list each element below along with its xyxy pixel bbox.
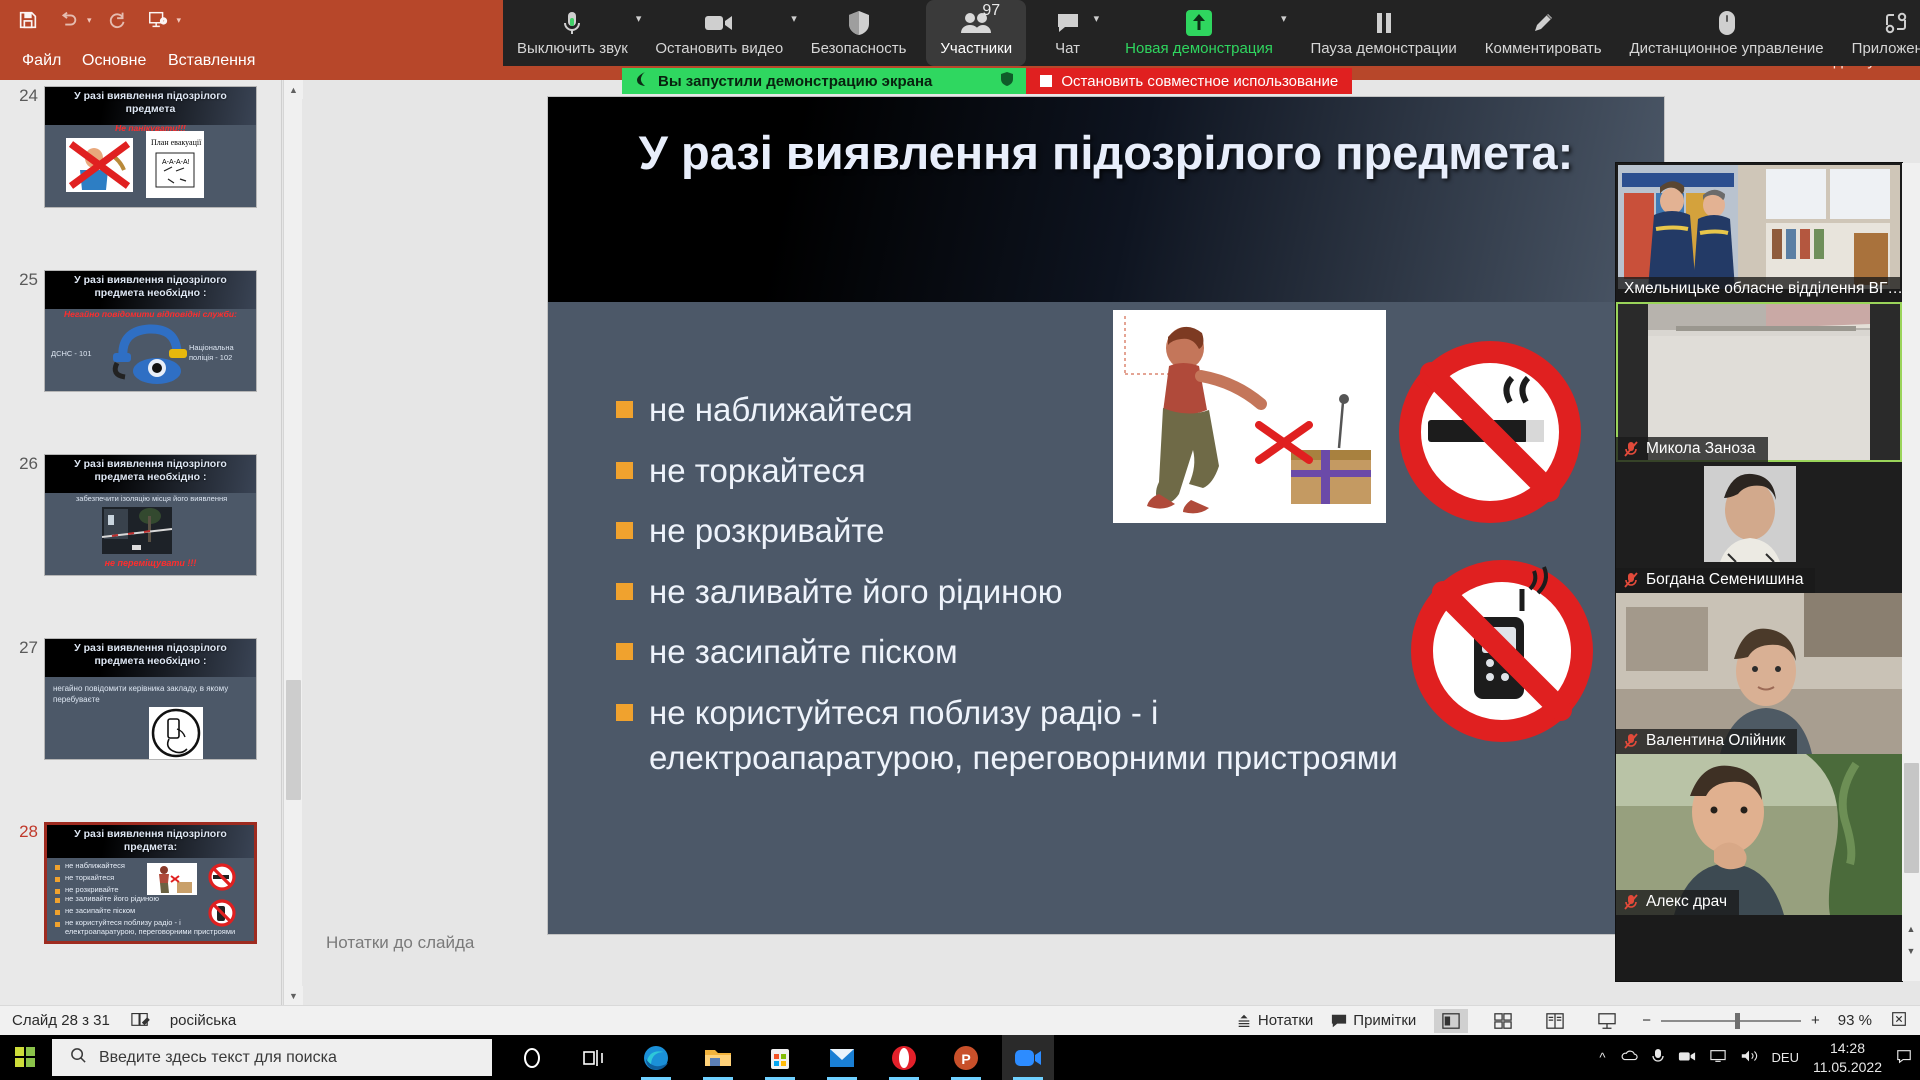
zoom-chat-button[interactable]: Чат <box>1036 0 1100 66</box>
list-item: не засипайте піском <box>616 629 1456 675</box>
muted-mic-icon <box>1624 894 1638 910</box>
taskbar-search-box[interactable]: Введите здесь текст для поиска <box>52 1039 492 1076</box>
zoom-video-strip[interactable]: Хмельницьке обласне відділення ВГ… <box>1616 163 1902 981</box>
camera-tray-icon[interactable] <box>1678 1049 1696 1066</box>
thumb-bullet-text: не засипайте піском <box>65 906 135 916</box>
notes-button[interactable]: Нотатки <box>1236 1012 1313 1029</box>
participant-name-text: Богдана Семенишина <box>1646 571 1803 589</box>
thumb-image-evac-plan: План евакуації A-A-A-A! <box>146 131 204 198</box>
video-tile-4[interactable]: Валентина Олійник <box>1616 593 1902 754</box>
redo-icon[interactable] <box>104 6 132 34</box>
zoom-sharing-status-bar: Вы запустили демонстрацию экрана Останов… <box>622 68 1352 94</box>
bullet-marker-icon <box>616 462 633 479</box>
keyboard-layout-indicator[interactable]: DEU <box>1772 1050 1799 1065</box>
pause-icon <box>1374 6 1394 40</box>
slide-thumbnail-24[interactable]: У разі виявлення підозрілого предмета Не… <box>44 86 257 208</box>
windows-taskbar[interactable]: Введите здесь текст для поиска <box>0 1035 1920 1080</box>
zoom-chat-label: Чат <box>1055 40 1080 57</box>
thumb-image-panic <box>66 138 133 192</box>
list-item[interactable]: 26 У разі виявлення підозрілого предмета… <box>0 454 282 576</box>
list-item[interactable]: 28 У разі виявлення підозрілого предмета… <box>0 822 282 944</box>
zoom-pause-share-button[interactable]: Пауза демонстрации <box>1296 0 1470 66</box>
ribbon-tab-file[interactable]: Файл <box>22 52 61 70</box>
edge-icon[interactable] <box>630 1035 682 1080</box>
participants-count: 97 <box>982 2 1000 20</box>
thumb-number: 25 <box>0 270 44 392</box>
video-tile-3[interactable]: Богдана Семенишина <box>1616 462 1902 593</box>
slide-image-suspicious-object[interactable] <box>1113 310 1386 523</box>
list-item: не заливайте його рідиною <box>616 569 1456 615</box>
mouse-icon <box>1718 6 1736 40</box>
bullet-text: не користуйтеся поблизу радіо - і електр… <box>649 690 1481 781</box>
thumb-number: 26 <box>0 454 44 576</box>
list-item: не користуйтеся поблизу радіо - і електр… <box>616 690 1481 781</box>
thumb-number: 24 <box>0 86 44 208</box>
clock-time: 14:28 <box>1813 1039 1882 1058</box>
thumb-bullet-text: не заливайте його рідиною <box>65 894 159 904</box>
svg-text:A-A-A-A!: A-A-A-A! <box>162 159 190 166</box>
language-indicator[interactable]: російська <box>170 1012 236 1029</box>
zoom-slider[interactable]: − + <box>1642 1012 1820 1029</box>
thumb-footer-text: не переміщувати !!! <box>51 558 250 568</box>
thumb-bullet-marker <box>55 865 60 870</box>
bullet-marker-icon <box>616 704 633 721</box>
view-reading-icon[interactable] <box>1538 1009 1572 1033</box>
opera-icon[interactable] <box>878 1035 930 1080</box>
thumb-plain-text: забезпечити ізоляцію місця його виявленн… <box>53 494 250 504</box>
thumb-plain-text: негайно повідомити керівника закладу, в … <box>53 684 250 706</box>
video-tile-1[interactable]: Хмельницьке обласне відділення ВГ… <box>1616 163 1902 302</box>
zoom-security-label: Безопасность <box>811 40 907 57</box>
slide-thumbnail-25[interactable]: У разі виявлення підозрілого предмета не… <box>44 270 257 392</box>
slide-thumbnail-26[interactable]: У разі виявлення підозрілого предмета не… <box>44 454 257 576</box>
video-tile-2[interactable]: Микола Заноза <box>1616 302 1902 462</box>
thumb-bullet-marker <box>55 889 60 894</box>
thumb-number: 28 <box>0 822 44 944</box>
slide-counter[interactable]: Слайд 28 з 31 <box>12 1012 110 1029</box>
participant-name-label: Алекс драч <box>1616 890 1739 915</box>
scroll-down-icon[interactable]: ▼ <box>284 986 303 1005</box>
video-strip-scrollbar[interactable]: ▲ ▼ <box>1902 163 1920 981</box>
start-button[interactable] <box>0 1035 52 1080</box>
chat-icon <box>1056 6 1080 40</box>
volume-icon[interactable] <box>1740 1049 1758 1066</box>
zoom-level-label[interactable]: 93 % <box>1838 1012 1872 1029</box>
participant-name-text: Хмельницьке обласне відділення ВГ… <box>1624 280 1902 298</box>
shield-icon <box>848 6 870 40</box>
view-normal-icon[interactable] <box>1434 1009 1468 1033</box>
zoom-annotate-button[interactable]: Комментировать <box>1471 0 1616 66</box>
view-slideshow-icon[interactable] <box>1590 1009 1624 1033</box>
zoom-stop-video-button[interactable]: Остановить видео <box>641 0 797 66</box>
scroll-up-icon[interactable]: ▲ <box>1902 919 1920 939</box>
bullet-text: не розкривайте <box>649 508 884 554</box>
list-item[interactable]: 25 У разі виявлення підозрілого предмета… <box>0 270 282 392</box>
qat-more-caret-icon[interactable]: ▾ <box>177 15 182 26</box>
undo-caret-icon[interactable]: ▾ <box>87 15 92 26</box>
ribbon-tab-home[interactable]: Основне <box>82 52 146 70</box>
zoom-meeting-toolbar[interactable]: Выключить звук ▾ Остановить видео ▾ <box>503 0 1920 66</box>
microphone-icon <box>560 6 584 40</box>
thumb-title: У разі виявлення підозрілого предмета не… <box>49 274 252 300</box>
zoom-participants-button[interactable]: 97 Участники <box>926 0 1026 66</box>
thumb-subtitle: Негайно повідомити відповідні служби: <box>51 309 250 319</box>
participant-name-label: Богдана Семенишина <box>1616 568 1815 593</box>
quick-access-toolbar: ▾ ▾ <box>14 6 181 34</box>
sharing-shield-icon <box>1000 71 1014 91</box>
show-hidden-icons-icon[interactable]: ^ <box>1599 1050 1605 1065</box>
start-slideshow-icon[interactable] <box>144 6 172 34</box>
bullet-marker-icon <box>616 643 633 660</box>
zoom-icon[interactable] <box>1002 1035 1054 1080</box>
system-tray: ^ DEU 14:28 <box>1599 1039 1920 1077</box>
zoom-apps-button[interactable]: Приложения <box>1838 0 1920 66</box>
zoom-knob[interactable] <box>1735 1013 1740 1029</box>
svg-text:План евакуації: План евакуації <box>151 138 202 147</box>
muted-mic-icon <box>1624 572 1638 588</box>
slide-title[interactable]: У разі виявлення підозрілого предмета: <box>588 124 1624 181</box>
thumb-bullet-marker <box>55 910 60 915</box>
thumb-icon-no-smoking <box>207 862 237 897</box>
zoom-new-share-label: Новая демонстрация <box>1125 40 1273 57</box>
view-slide-sorter-icon[interactable] <box>1486 1009 1520 1033</box>
onedrive-icon[interactable] <box>1620 1049 1638 1066</box>
apps-icon <box>1883 6 1909 40</box>
zoom-new-share-button[interactable]: Новая демонстрация <box>1111 0 1287 66</box>
zoom-out-button[interactable]: − <box>1642 1012 1651 1029</box>
muted-mic-icon <box>1624 441 1638 457</box>
scroll-down-icon[interactable]: ▼ <box>1902 941 1920 961</box>
participant-name-text: Алекс драч <box>1646 893 1727 911</box>
thumb-bullet-text: не розкривайте <box>65 885 119 895</box>
undo-icon[interactable] <box>54 6 82 34</box>
thumbnail-scrollbar[interactable]: ▲ ▼ <box>283 80 302 1005</box>
participant-name-label: Хмельницьке обласне відділення ВГ… <box>1616 277 1902 302</box>
thumb-label-police: Національна поліція - 102 <box>189 343 255 363</box>
comments-button[interactable]: Примітки <box>1331 1012 1416 1029</box>
fit-slide-icon[interactable] <box>1890 1010 1908 1032</box>
thumb-label-dsns: ДСНС - 101 <box>51 349 119 359</box>
thumb-image-suspicious-object <box>147 863 197 895</box>
taskbar-app-icons: P <box>506 1035 1054 1080</box>
muted-mic-icon <box>1624 733 1638 749</box>
search-icon <box>70 1047 87 1069</box>
file-explorer-icon[interactable] <box>692 1035 744 1080</box>
participant-name-label: Валентина Олійник <box>1616 729 1797 754</box>
participant-name-text: Валентина Олійник <box>1646 732 1785 750</box>
thumb-title: У разі виявлення підозрілого предмета не… <box>49 642 252 668</box>
zoom-security-button[interactable]: Безопасность <box>797 0 921 66</box>
stop-share-text: Остановить совместное использование <box>1061 73 1338 90</box>
thumb-title: У разі виявлення підозрілого предмета не… <box>49 458 252 484</box>
display-tray-icon[interactable] <box>1710 1049 1726 1066</box>
zoom-remote-control-label: Дистанционное управление <box>1630 40 1824 57</box>
zoom-participants-label: Участники <box>940 40 1012 57</box>
save-icon[interactable] <box>14 6 42 34</box>
bullet-text: не заливайте його рідиною <box>649 569 1062 615</box>
list-item[interactable]: 24 У разі виявлення підозрілого предмета… <box>0 86 282 208</box>
zoom-toolbar-items: Выключить звук ▾ Остановить видео ▾ <box>503 0 1920 66</box>
zoom-stop-video-label: Остановить видео <box>655 40 783 57</box>
thumb-bullet-marker <box>55 877 60 882</box>
cortana-icon[interactable] <box>506 1035 558 1080</box>
slide-thumbnail-28[interactable]: У разі виявлення підозрілого предмета: н… <box>44 822 257 944</box>
sharing-active-text: Вы запустили демонстрацию экрана <box>658 73 932 90</box>
slide-notes-placeholder[interactable]: Нотатки до слайда <box>303 919 1633 979</box>
scrollbar-thumb[interactable] <box>1904 763 1919 873</box>
bullet-marker-icon <box>616 522 633 539</box>
thumb-bullet-text: не наближайтеся <box>65 861 125 871</box>
bullet-marker-icon <box>616 401 633 418</box>
bullet-marker-icon <box>616 583 633 600</box>
slide-icon-no-phone <box>1410 559 1595 749</box>
sharing-wave-icon <box>634 71 648 91</box>
participant-name-label: Микола Заноза <box>1616 437 1768 462</box>
list-item[interactable]: 27 У разі виявлення підозрілого предмета… <box>0 638 282 760</box>
video-tile-5[interactable]: Алекс драч <box>1616 754 1902 915</box>
thumb-image-night-street <box>102 507 172 554</box>
microphone-tray-icon[interactable] <box>1652 1048 1664 1067</box>
zoom-remote-control-button[interactable]: Дистанционное управление <box>1616 0 1838 66</box>
thumb-image-phone-hand <box>149 707 203 759</box>
thumb-icon-no-phone <box>207 898 237 933</box>
zoom-track[interactable] <box>1661 1020 1801 1022</box>
spellcheck-icon[interactable] <box>130 1010 150 1032</box>
thumb-title: У разі виявлення підозрілого предмета: <box>51 828 250 854</box>
zoom-mute-label: Выключить звук <box>517 40 628 57</box>
action-center-icon[interactable] <box>1896 1048 1912 1067</box>
thumb-bullet-text: не торкайтеся <box>65 873 114 883</box>
share-screen-icon <box>1185 6 1213 40</box>
ribbon-tab-insert[interactable]: Вставлення <box>168 52 255 70</box>
powerpoint-status-bar: Слайд 28 з 31 російська Нотатки Примітки <box>0 1005 1920 1035</box>
powerpoint-icon[interactable]: P <box>940 1035 992 1080</box>
participant-name-text: Микола Заноза <box>1646 440 1756 458</box>
pencil-icon <box>1531 6 1555 40</box>
store-icon[interactable] <box>754 1035 806 1080</box>
taskbar-clock[interactable]: 14:28 11.05.2022 <box>1813 1039 1882 1077</box>
thumb-bullet-marker <box>55 922 60 927</box>
zoom-in-button[interactable]: + <box>1811 1012 1820 1029</box>
scrollbar-thumb[interactable] <box>286 680 301 800</box>
camera-icon <box>704 6 734 40</box>
bullet-text: не наближайтеся <box>649 387 913 433</box>
stop-share-button[interactable]: Остановить совместное использование <box>1026 68 1352 94</box>
zoom-apps-label: Приложения <box>1852 40 1920 57</box>
slide-icon-no-smoking <box>1398 340 1583 530</box>
zoom-mute-button[interactable]: Выключить звук <box>503 0 642 66</box>
mail-icon[interactable] <box>816 1035 868 1080</box>
thumb-number: 27 <box>0 638 44 760</box>
clock-date: 11.05.2022 <box>1813 1058 1882 1077</box>
svg-text:P: P <box>961 1051 970 1067</box>
notes-label: Нотатки <box>1258 1012 1313 1029</box>
task-view-icon[interactable] <box>568 1035 620 1080</box>
bullet-text: не засипайте піском <box>649 629 958 675</box>
bullet-text: не торкайтеся <box>649 448 866 494</box>
stop-square-icon <box>1040 75 1052 87</box>
search-placeholder: Введите здесь текст для поиска <box>99 1049 337 1067</box>
slide-thumbnail-27[interactable]: У разі виявлення підозрілого предмета не… <box>44 638 257 760</box>
current-slide[interactable]: У разі виявлення підозрілого предмета: н… <box>548 97 1664 934</box>
slide-thumbnail-pane[interactable]: 24 У разі виявлення підозрілого предмета… <box>0 80 282 1005</box>
thumb-title: У разі виявлення підозрілого предмета <box>49 90 252 116</box>
zoom-annotate-label: Комментировать <box>1485 40 1602 57</box>
zoom-pause-share-label: Пауза демонстрации <box>1310 40 1456 57</box>
thumb-bullet-marker <box>55 898 60 903</box>
sharing-active-banner[interactable]: Вы запустили демонстрацию экрана <box>622 68 1026 94</box>
scroll-up-icon[interactable]: ▲ <box>284 80 303 99</box>
comments-label: Примітки <box>1353 1012 1416 1029</box>
